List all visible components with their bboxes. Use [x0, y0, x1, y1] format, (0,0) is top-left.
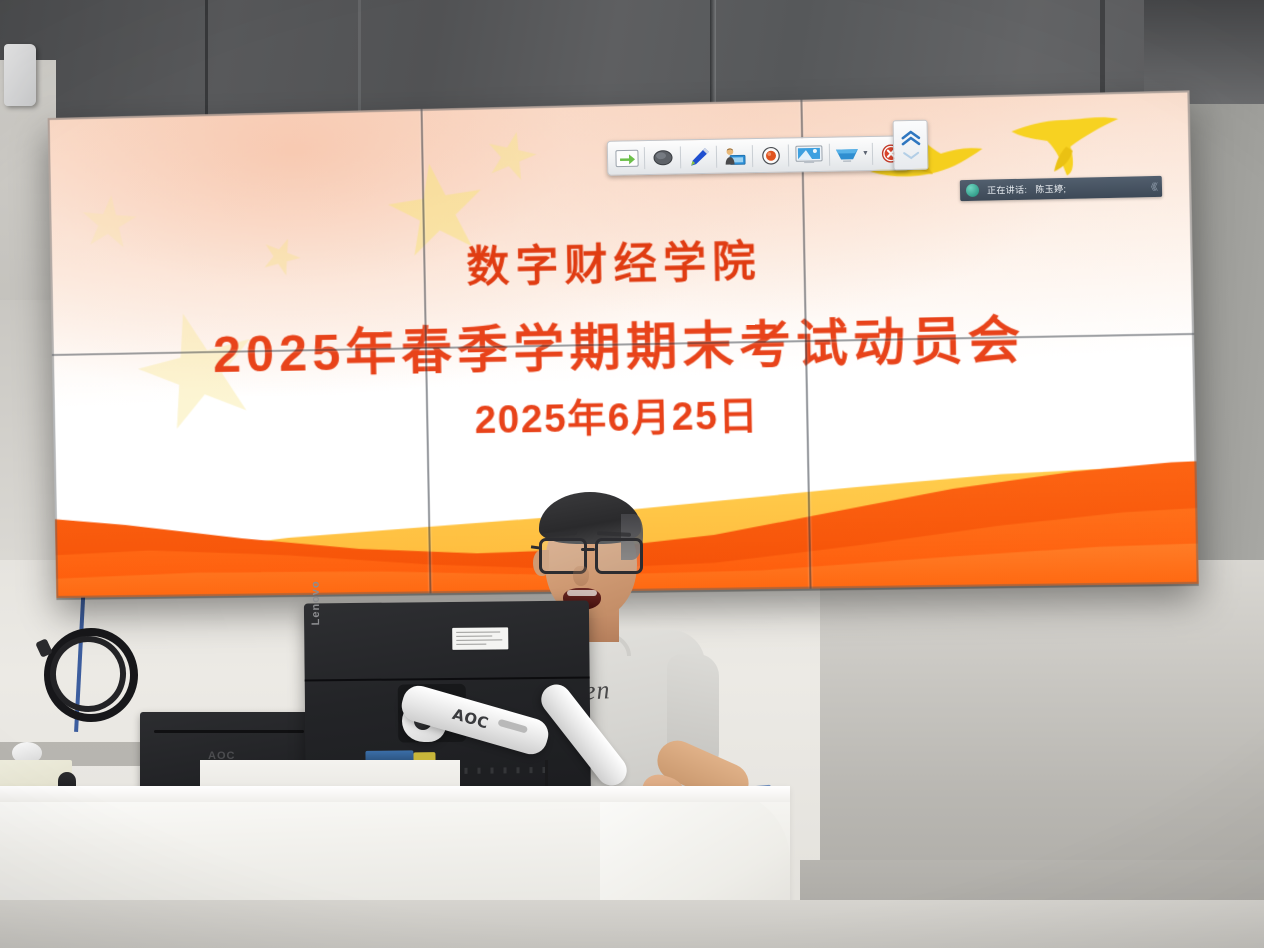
- monitor-arm-slot: [497, 719, 528, 734]
- monitor-arm-brand-logo: AOC: [450, 705, 490, 732]
- monitor-brand-logo: Lenovo: [310, 580, 322, 625]
- floor: [0, 900, 1264, 948]
- restore-arrow-icon[interactable]: [610, 144, 644, 173]
- screenshot-scene: ★ ★ ★ ★ ★ 数字财经学院 2025年春季学期期末考试动员会 2025年6…: [0, 0, 1264, 948]
- chevron-down-icon[interactable]: ▼: [862, 150, 869, 157]
- speaking-status-label: 正在讲话:: [987, 183, 1028, 197]
- speaking-status-bar[interactable]: 正在讲话: 陈玉婷; 《《: [960, 176, 1162, 201]
- monitor-sticker: [452, 627, 508, 650]
- monitor-vent: [154, 730, 304, 733]
- presenter-nose: [573, 566, 589, 586]
- display-mode-icon[interactable]: ▼: [831, 139, 872, 168]
- wall-sensor-device: [4, 44, 36, 106]
- glasses-icon: [539, 538, 643, 570]
- podium-desk-top: [0, 786, 790, 802]
- glasses-bridge: [581, 548, 595, 551]
- record-icon[interactable]: [754, 141, 788, 170]
- eraser-icon[interactable]: [646, 143, 680, 172]
- chevron-double-up-icon[interactable]: [893, 120, 929, 171]
- speaker-name: 陈玉婷;: [1035, 182, 1066, 196]
- glasses-lens: [595, 538, 643, 574]
- pen-icon[interactable]: [682, 142, 716, 171]
- dove-icon: [1009, 100, 1126, 183]
- collapse-chevrons-icon[interactable]: 《《: [1146, 180, 1156, 193]
- annotation-toolbar[interactable]: ▼: [607, 135, 911, 176]
- glasses-temple: [531, 545, 541, 549]
- screen-share-icon[interactable]: [790, 140, 829, 169]
- monitor-seam: [305, 677, 590, 682]
- microphone-icon: [966, 184, 979, 197]
- presenter-icon[interactable]: [718, 142, 752, 171]
